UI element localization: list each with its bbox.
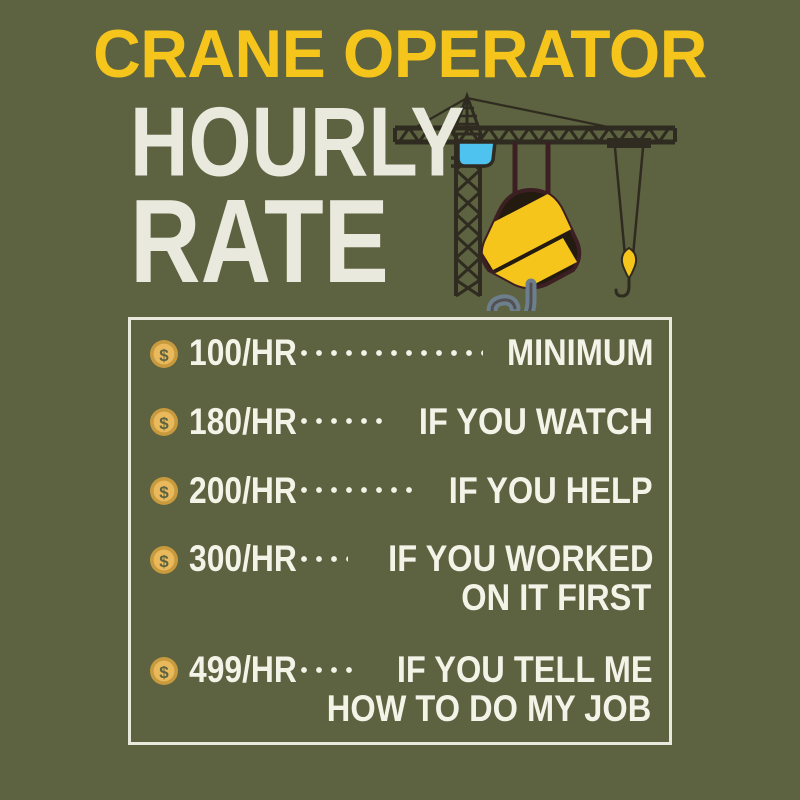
list-item: $ 180/HR IF YOU WATCH — [149, 403, 653, 440]
list-item: $ 499/HR IF YOU TELL ME HOW TO DO MY JOB — [149, 651, 653, 730]
price-description: IF YOU TELL ME — [397, 651, 653, 688]
crane-illustration — [385, 86, 685, 311]
list-item: $ 300/HR IF YOU WORKED ON IT FIRST — [149, 540, 653, 619]
coin-symbol: $ — [159, 414, 169, 433]
coin-symbol: $ — [159, 483, 169, 502]
coin-symbol: $ — [159, 552, 169, 571]
dollar-coin-icon: $ — [149, 339, 179, 369]
dotted-leader-icon — [299, 652, 358, 688]
coin-symbol: $ — [159, 346, 169, 365]
dotted-leader-icon — [299, 472, 417, 508]
price-value: 100/HR — [189, 334, 282, 371]
price-value: 499/HR — [189, 651, 282, 688]
dollar-coin-icon: $ — [149, 476, 179, 506]
dotted-leader-icon — [299, 335, 483, 371]
list-item: $ 100/HR MINIMUM — [149, 334, 653, 371]
dotted-leader-icon — [299, 541, 348, 577]
price-value: 180/HR — [189, 403, 282, 440]
dotted-leader-icon — [299, 403, 383, 439]
dollar-coin-icon: $ — [149, 545, 179, 575]
subtitle-rate: RATE — [130, 183, 389, 302]
price-value: 200/HR — [189, 472, 282, 509]
price-description: IF YOU WORKED — [388, 540, 653, 577]
price-list-frame: $ 100/HR MINIMUM — [128, 317, 672, 745]
list-item: $ 200/HR IF YOU HELP — [149, 472, 653, 509]
hoist-cables-icon — [515, 142, 548, 196]
hook-block-icon — [471, 186, 585, 311]
price-list: $ 100/HR MINIMUM — [131, 320, 669, 742]
price-description-line2: HOW TO DO MY JOB — [209, 688, 653, 730]
crane-cab-icon — [458, 142, 495, 166]
dollar-coin-icon: $ — [149, 407, 179, 437]
page-title: CRANE OPERATOR — [12, 18, 788, 90]
price-value: 300/HR — [189, 540, 282, 577]
price-description: MINIMUM — [507, 334, 653, 371]
coin-symbol: $ — [159, 663, 169, 682]
price-description-line2: ON IT FIRST — [209, 577, 653, 619]
price-description: IF YOU HELP — [449, 472, 653, 509]
price-description: IF YOU WATCH — [419, 403, 653, 440]
dollar-coin-icon: $ — [149, 656, 179, 686]
trolley-hook-icon — [607, 138, 651, 296]
poster-canvas: CRANE OPERATOR HOURLY RATE — [0, 0, 800, 800]
